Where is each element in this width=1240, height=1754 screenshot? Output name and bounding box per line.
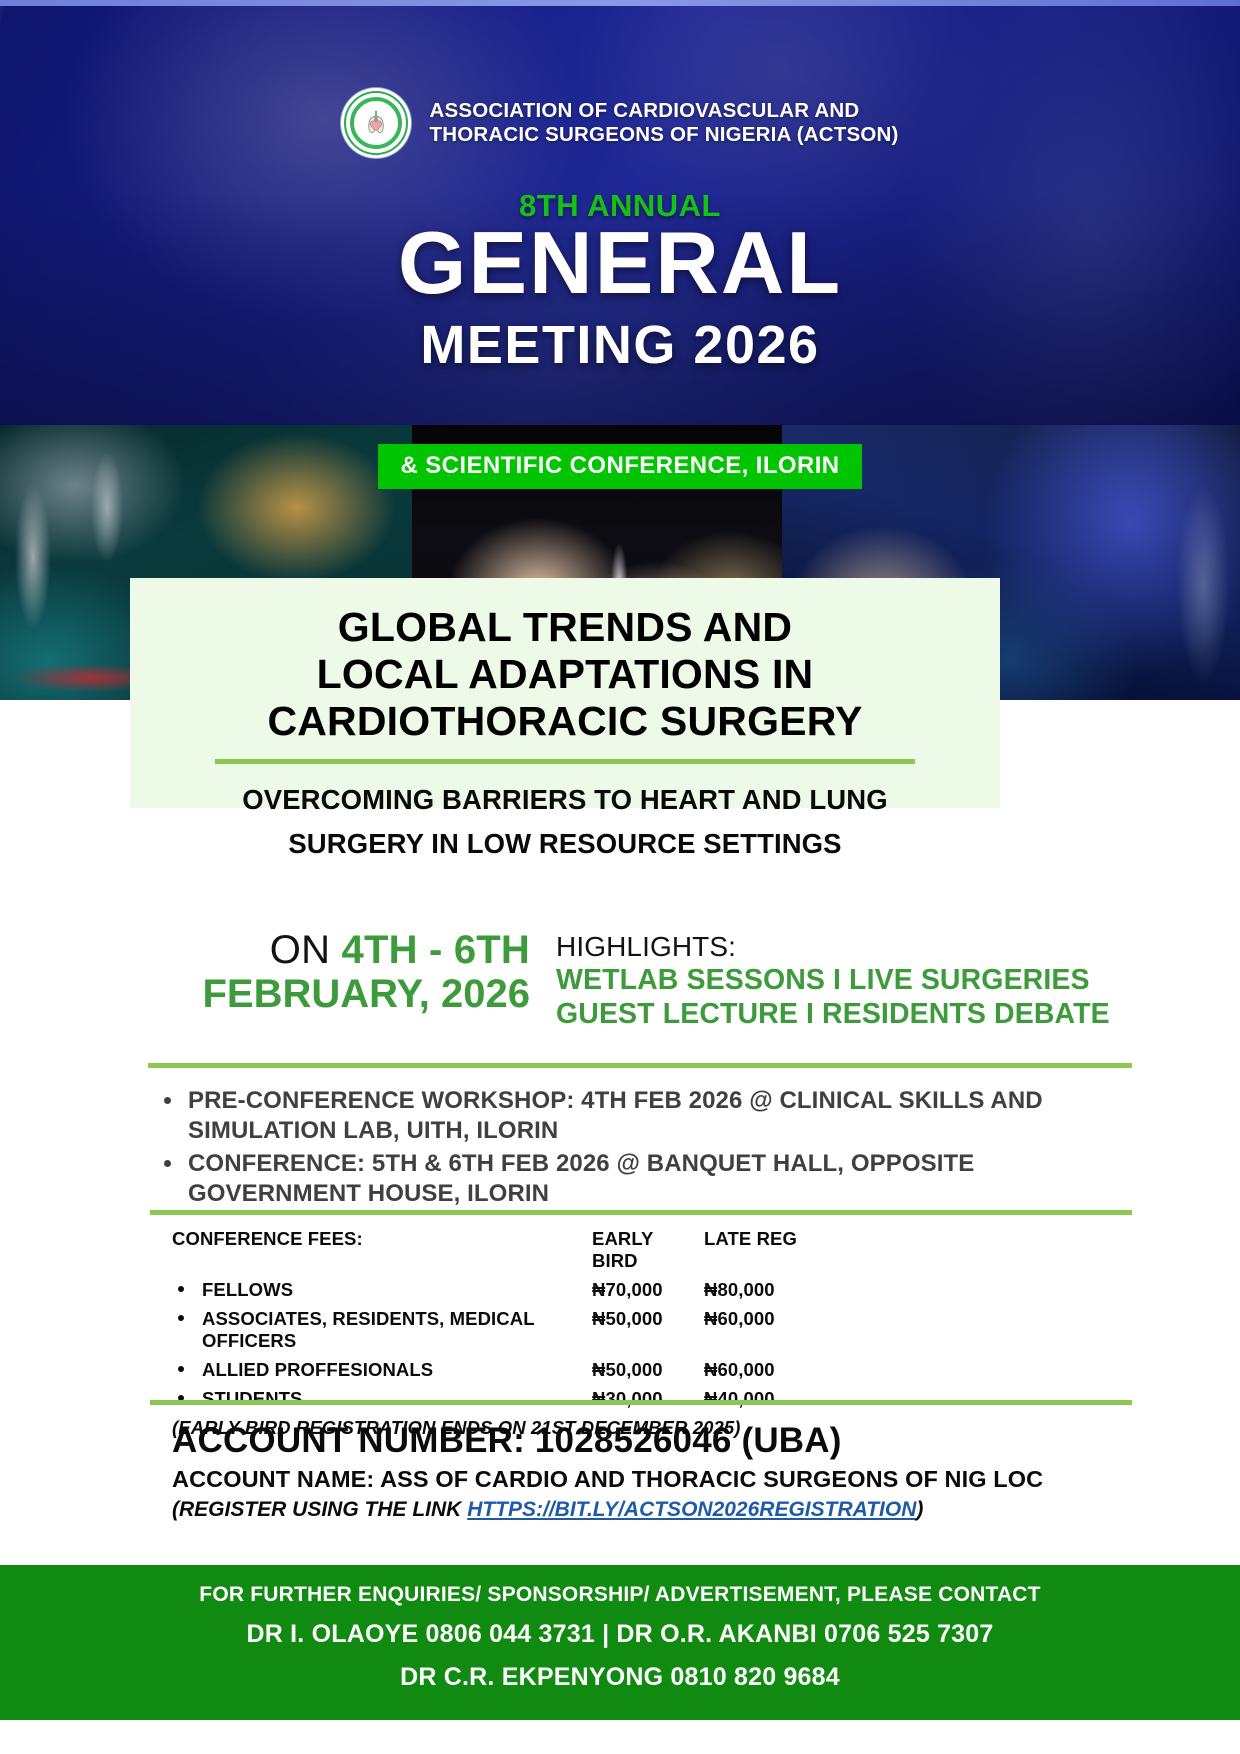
list-item: PRE-CONFERENCE WORKSHOP: 4TH FEB 2026 @ … (148, 1086, 1138, 1147)
bullet-dot-icon (164, 1160, 171, 1167)
theme-heading: GLOBAL TRENDS AND LOCAL ADAPTATIONS IN C… (158, 604, 972, 745)
bullet-dot-icon (178, 1366, 184, 1372)
venue-text-1: PRE-CONFERENCE WORKSHOP: 4TH FEB 2026 @ … (188, 1087, 1043, 1144)
fees-title: CONFERENCE FEES: (172, 1228, 592, 1272)
fee-category-label: STUDENTS (202, 1388, 303, 1409)
fee-early-value: ₦50,000 (592, 1359, 704, 1381)
date-on-word: ON (270, 928, 342, 972)
actson-logo-icon (341, 88, 411, 158)
highlights-block: HIGHLIGHTS: WETLAB SESSONS I LIVE SURGER… (556, 928, 1130, 1031)
fee-category-label: ALLIED PROFFESIONALS (202, 1359, 433, 1380)
theme-subheading: OVERCOMING BARRIERS TO HEART AND LUNG SU… (158, 778, 972, 865)
fees-table: CONFERENCE FEES: EARLY BIRD LATE REG FEL… (172, 1228, 1032, 1439)
fees-header-row: CONFERENCE FEES: EARLY BIRD LATE REG (172, 1228, 1032, 1272)
account-block: ACCOUNT NUMBER: 1028526046 (UBA) ACCOUNT… (172, 1420, 1152, 1522)
fee-early-value: ₦50,000 (592, 1308, 704, 1330)
conference-poster: ASSOCIATION OF CARDIOVASCULAR AND THORAC… (0, 0, 1240, 1754)
registration-prefix: (REGISTER USING THE LINK (172, 1498, 467, 1521)
fee-late-value: ₦80,000 (704, 1279, 814, 1301)
bullet-dot-icon (178, 1286, 184, 1292)
registration-line: (REGISTER USING THE LINK HTTPS://BIT.LY/… (172, 1498, 1152, 1522)
event-date-line-2: FEBRUARY, 2026 (130, 972, 530, 1017)
fee-late-value: ₦60,000 (704, 1308, 814, 1330)
organization-row: ASSOCIATION OF CARDIOVASCULAR AND THORAC… (0, 88, 1240, 158)
fees-col-early-bird: EARLY BIRD (592, 1228, 704, 1272)
theme-sub-line-2: SURGERY IN LOW RESOURCE SETTINGS (288, 828, 841, 859)
conference-banner-text: & SCIENTIFIC CONFERENCE, ILORIN (378, 444, 861, 489)
divider-above-account (150, 1400, 1132, 1405)
footer-line-3: DR C.R. EKPENYONG 0810 820 9684 (0, 1663, 1240, 1692)
theme-line-3: CARDIOTHORACIC SURGERY (267, 698, 862, 744)
bullet-dot-icon (178, 1315, 184, 1321)
top-accent-strip (0, 0, 1240, 6)
theme-divider (215, 759, 915, 764)
bullet-dot-icon (164, 1097, 171, 1104)
poster-title-main: GENERAL (0, 218, 1240, 308)
footer-line-2: DR I. OLAOYE 0806 044 3731 | DR O.R. AKA… (0, 1620, 1240, 1649)
poster-title-sub: MEETING 2026 (0, 314, 1240, 376)
fee-category-label: ASSOCIATES, RESIDENTS, MEDICAL OFFICERS (202, 1308, 534, 1351)
registration-link[interactable]: HTTPS://BIT.LY/ACTSON2026REGISTRATION (467, 1498, 916, 1521)
lungs-heart-icon (357, 104, 395, 142)
fees-col-late-reg: LATE REG (704, 1228, 814, 1272)
table-row: ALLIED PROFFESIONALS ₦50,000 ₦60,000 (172, 1359, 1032, 1381)
theme-line-1: GLOBAL TRENDS AND (338, 604, 792, 650)
divider-above-fees (150, 1210, 1132, 1215)
fee-category: ASSOCIATES, RESIDENTS, MEDICAL OFFICERS (172, 1308, 592, 1352)
organization-name: ASSOCIATION OF CARDIOVASCULAR AND THORAC… (429, 99, 898, 147)
fee-early-value: ₦70,000 (592, 1279, 704, 1301)
highlights-line-2: GUEST LECTURE I RESIDENTS DEBATE (556, 997, 1130, 1031)
fee-late-value: ₦60,000 (704, 1359, 814, 1381)
account-number: ACCOUNT NUMBER: 1028526046 (UBA) (172, 1420, 1152, 1461)
highlights-line-1: WETLAB SESSONS I LIVE SURGERIES (556, 963, 1130, 997)
table-row: FELLOWS ₦70,000 ₦80,000 (172, 1279, 1032, 1301)
fee-early-value: ₦30,000 (592, 1388, 704, 1410)
org-line-1: ASSOCIATION OF CARDIOVASCULAR AND (429, 99, 898, 123)
table-row: STUDENTS ₦30,000 ₦40,000 (172, 1388, 1032, 1410)
event-date-block: ON 4TH - 6TH FEBRUARY, 2026 (130, 928, 530, 1017)
registration-suffix: ) (916, 1498, 923, 1521)
list-item: CONFERENCE: 5TH & 6TH FEB 2026 @ BANQUET… (148, 1149, 1138, 1210)
account-name: ACCOUNT NAME: ASS OF CARDIO AND THORACIC… (172, 1466, 1152, 1493)
contact-footer: FOR FURTHER ENQUIRIES/ SPONSORSHIP/ ADVE… (0, 1565, 1240, 1720)
footer-line-1: FOR FURTHER ENQUIRIES/ SPONSORSHIP/ ADVE… (0, 1583, 1240, 1607)
theme-panel: GLOBAL TRENDS AND LOCAL ADAPTATIONS IN C… (130, 578, 1000, 808)
org-line-2: THORACIC SURGEONS OF NIGERIA (ACTSON) (429, 123, 898, 147)
date-range: 4TH - 6TH (342, 928, 530, 972)
date-highlights-row: ON 4TH - 6TH FEBRUARY, 2026 HIGHLIGHTS: … (130, 928, 1130, 1031)
theme-line-2: LOCAL ADAPTATIONS IN (317, 651, 814, 697)
divider-above-venues (148, 1063, 1132, 1068)
fee-category: ALLIED PROFFESIONALS (172, 1359, 592, 1381)
fee-late-value: ₦40,000 (704, 1388, 814, 1410)
hero-section: ASSOCIATION OF CARDIOVASCULAR AND THORAC… (0, 0, 1240, 425)
fee-category: STUDENTS (172, 1388, 592, 1410)
footer-bottom-edge (0, 1720, 1240, 1754)
fee-category-label: FELLOWS (202, 1279, 293, 1300)
event-date-line-1: ON 4TH - 6TH (130, 928, 530, 972)
highlights-label: HIGHLIGHTS: (556, 930, 1130, 963)
conference-banner: & SCIENTIFIC CONFERENCE, ILORIN (0, 444, 1240, 489)
venue-text-2: CONFERENCE: 5TH & 6TH FEB 2026 @ BANQUET… (188, 1150, 974, 1207)
venue-list: PRE-CONFERENCE WORKSHOP: 4TH FEB 2026 @ … (148, 1086, 1138, 1212)
fee-category: FELLOWS (172, 1279, 592, 1301)
theme-sub-line-1: OVERCOMING BARRIERS TO HEART AND LUNG (242, 784, 887, 815)
table-row: ASSOCIATES, RESIDENTS, MEDICAL OFFICERS … (172, 1308, 1032, 1352)
